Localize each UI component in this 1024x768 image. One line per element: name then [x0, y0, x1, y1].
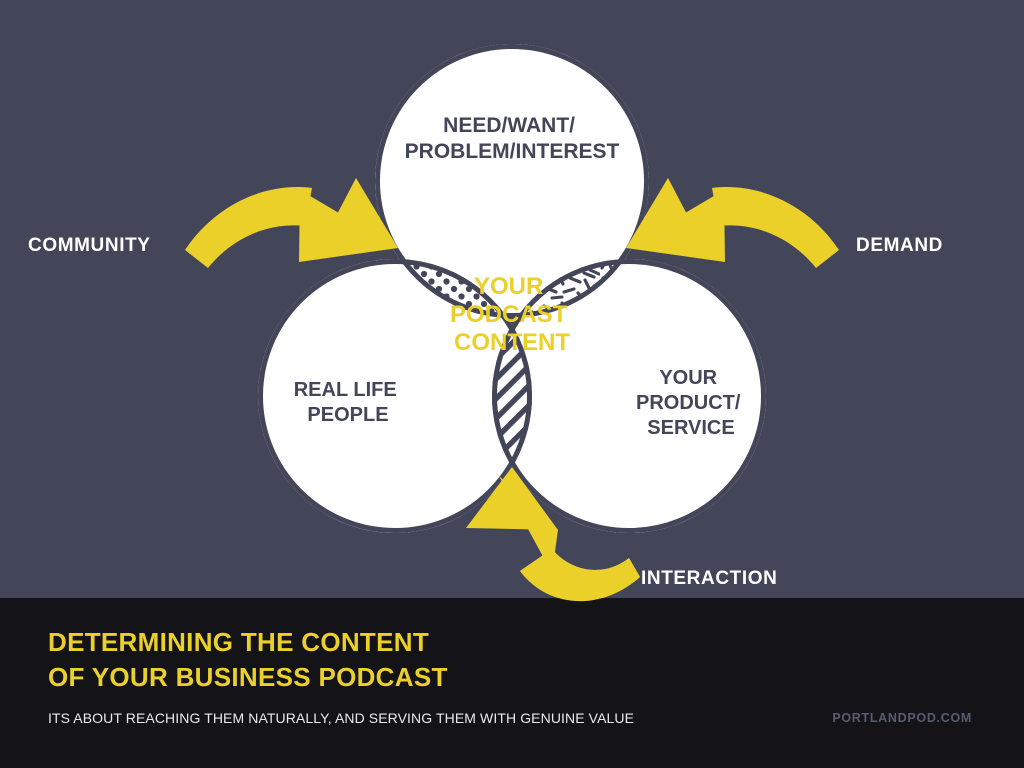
- circle-right-label-line3: SERVICE: [647, 417, 734, 439]
- center-label-line3: CONTENT: [454, 329, 570, 356]
- center-label-line1: YOUR: [474, 273, 543, 300]
- infographic-slide: NEED/WANT/ PROBLEM/INTEREST REAL LIFE PE…: [0, 0, 1024, 768]
- circle-top-label-line2: PROBLEM/INTEREST: [405, 140, 620, 163]
- circle-right-label-line1: YOUR: [659, 367, 717, 389]
- arrow-community-icon[interactable]: [185, 178, 398, 268]
- footer-bar: DETERMINING THE CONTENT OF YOUR BUSINESS…: [0, 598, 1024, 768]
- circle-right-label-line2: PRODUCT/: [636, 392, 741, 414]
- footer-title-line1: DETERMINING THE CONTENT: [48, 625, 448, 660]
- center-label-line2: PODCAST: [450, 301, 568, 328]
- label-demand: DEMAND: [856, 235, 943, 257]
- footer-brand: PORTLANDPOD.COM: [832, 711, 972, 725]
- circle-left-label-line1: REAL LIFE: [294, 379, 397, 401]
- arrow-demand-icon[interactable]: [626, 178, 839, 268]
- label-interaction: INTERACTION: [641, 568, 777, 590]
- footer-subtitle: ITS ABOUT REACHING THEM NATURALLY, AND S…: [48, 710, 634, 726]
- footer-title-line2: OF YOUR BUSINESS PODCAST: [48, 660, 448, 695]
- circle-left-label-line2: PEOPLE: [307, 404, 388, 426]
- footer-title: DETERMINING THE CONTENT OF YOUR BUSINESS…: [48, 625, 448, 695]
- circle-top-label-line1: NEED/WANT/: [443, 114, 575, 137]
- label-community: COMMUNITY: [28, 235, 151, 257]
